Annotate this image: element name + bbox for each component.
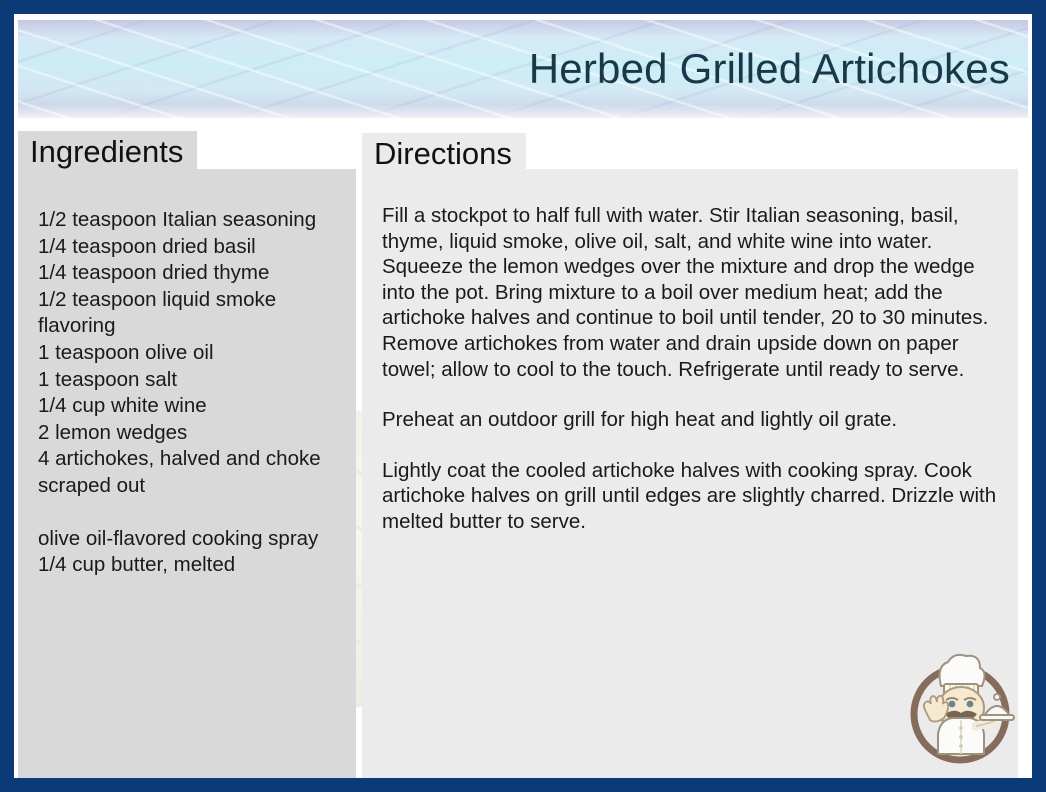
list-item: 1/4 cup butter, melted (38, 552, 354, 579)
list-item: 1/4 teaspoon dried thyme (38, 260, 354, 287)
list-item: 1/2 teaspoon Italian seasoning (38, 207, 354, 234)
list-item: olive oil-flavored cooking spray (38, 526, 354, 553)
list-item: 1/4 cup white wine (38, 393, 354, 420)
ingredients-heading: Ingredients (18, 131, 197, 176)
recipe-card: Herbed Grilled Artichokes (0, 0, 1046, 792)
directions-heading: Directions (362, 133, 526, 178)
list-item: 1 teaspoon olive oil (38, 340, 354, 367)
header-banner: Herbed Grilled Artichokes (18, 20, 1028, 118)
list-item: 1/4 teaspoon dried basil (38, 234, 354, 261)
ingredients-panel: 1/2 teaspoon Italian seasoning 1/4 teasp… (18, 169, 356, 778)
list-item: 1 teaspoon salt (38, 367, 354, 394)
page-title: Herbed Grilled Artichokes (529, 45, 1010, 93)
directions-paragraph: Preheat an outdoor grill for high heat a… (382, 407, 1004, 433)
directions-paragraph: Lightly coat the cooled artichoke halves… (382, 458, 1004, 535)
list-item: 4 artichokes, halved and choke scraped o… (38, 446, 354, 499)
directions-paragraph: Fill a stockpot to half full with water.… (382, 203, 1004, 382)
ingredients-list: 1/2 teaspoon Italian seasoning 1/4 teasp… (38, 207, 354, 579)
list-item: 1/2 teaspoon liquid smoke flavoring (38, 287, 354, 340)
list-spacer (38, 500, 354, 526)
list-item: 2 lemon wedges (38, 420, 354, 447)
recipe-page: Herbed Grilled Artichokes (14, 14, 1032, 778)
directions-text: Fill a stockpot to half full with water.… (382, 203, 1004, 535)
chef-mascot-logo (896, 642, 1024, 770)
